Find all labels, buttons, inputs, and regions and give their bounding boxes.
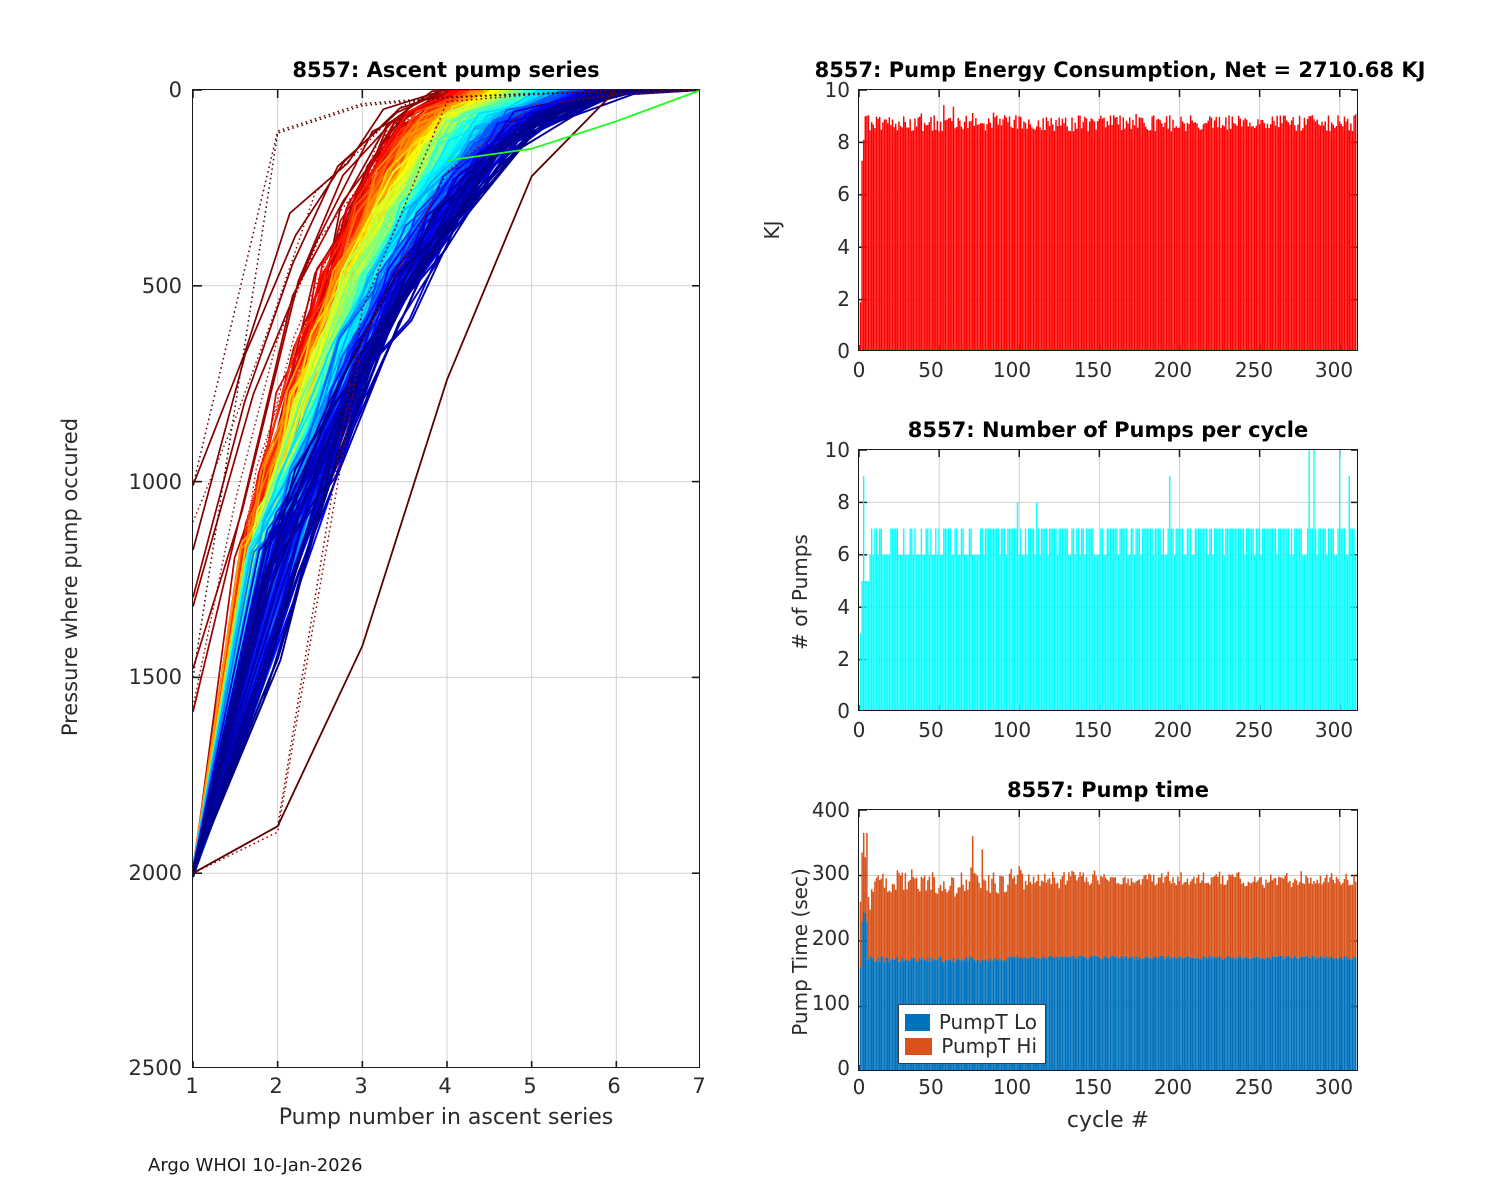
time-xtick-250: 250 (1229, 1075, 1279, 1099)
pumps-xtick-150: 150 (1068, 718, 1118, 742)
time-xtick-50: 50 (910, 1075, 952, 1099)
figure-footer-credit: Argo WHOI 10-Jan-2026 (148, 1155, 363, 1176)
pumps-xtick-300: 300 (1309, 718, 1359, 742)
pump-time-ylabel: Pump Time (sec) (788, 817, 812, 1087)
energy-xtick-200: 200 (1148, 358, 1198, 382)
energy-ytick-0: 0 (798, 339, 850, 363)
ascent-ytick-2000: 2000 (120, 861, 182, 885)
pumps-xtick-250: 250 (1229, 718, 1279, 742)
legend-label-pumpt-hi: PumpT Hi (941, 1036, 1037, 1056)
ascent-ytick-500: 500 (120, 274, 182, 298)
pump-energy-plot-area[interactable] (858, 89, 1358, 351)
pump-time-title: 8557: Pump time (858, 778, 1358, 802)
ascent-ytick-1500: 1500 (120, 665, 182, 689)
ascent-pump-series-plot-area[interactable] (192, 89, 700, 1068)
legend-swatch-pumpt-hi (905, 1038, 932, 1055)
time-xtick-100: 100 (987, 1075, 1037, 1099)
pump-energy-ylabel: KJ (760, 200, 784, 260)
legend-label-pumpt-lo: PumpT Lo (939, 1012, 1037, 1032)
pumps-xtick-50: 50 (910, 718, 952, 742)
time-ytick-100: 100 (778, 991, 850, 1015)
time-ytick-300: 300 (778, 861, 850, 885)
energy-ytick-6: 6 (798, 182, 850, 206)
ascent-xtick-7: 7 (685, 1074, 713, 1098)
energy-xtick-300: 300 (1309, 358, 1359, 382)
time-ytick-200: 200 (778, 926, 850, 950)
ascent-pump-series-ylabel: Pressure where pump occured (58, 297, 82, 857)
pump-time-legend: PumpT Lo PumpT Hi (898, 1004, 1046, 1064)
pumps-ytick-4: 4 (798, 595, 850, 619)
pumps-xtick-100: 100 (987, 718, 1037, 742)
pumps-per-cycle-title: 8557: Number of Pumps per cycle (858, 418, 1358, 442)
pumps-ytick-2: 2 (798, 647, 850, 671)
legend-entry-pumpt-hi[interactable]: PumpT Hi (905, 1034, 1037, 1058)
pumps-ytick-6: 6 (798, 542, 850, 566)
ascent-pump-series-title: 8557: Ascent pump series (192, 58, 700, 82)
ascent-xtick-4: 4 (431, 1074, 459, 1098)
ascent-pump-series-xlabel: Pump number in ascent series (192, 1105, 700, 1130)
pumps-ytick-10: 10 (798, 438, 850, 462)
pump-time-xlabel: cycle # (858, 1108, 1358, 1133)
ascent-xtick-6: 6 (600, 1074, 628, 1098)
energy-xtick-150: 150 (1068, 358, 1118, 382)
pump-energy-title: 8557: Pump Energy Consumption, Net = 271… (760, 58, 1480, 82)
energy-xtick-50: 50 (910, 358, 952, 382)
ascent-xtick-5: 5 (516, 1074, 544, 1098)
ascent-ytick-1000: 1000 (120, 470, 182, 494)
energy-ytick-2: 2 (798, 287, 850, 311)
energy-ytick-10: 10 (798, 78, 850, 102)
pumps-per-cycle-plot-area[interactable] (858, 449, 1358, 711)
legend-swatch-pumpt-lo (905, 1014, 930, 1031)
ascent-ytick-0: 0 (120, 78, 182, 102)
energy-xtick-0: 0 (844, 358, 874, 382)
pumps-xtick-200: 200 (1148, 718, 1198, 742)
ascent-xtick-3: 3 (347, 1074, 375, 1098)
time-ytick-0: 0 (778, 1056, 850, 1080)
energy-ytick-4: 4 (798, 235, 850, 259)
ascent-xtick-2: 2 (262, 1074, 290, 1098)
pumps-ytick-0: 0 (798, 699, 850, 723)
time-xtick-0: 0 (844, 1075, 874, 1099)
figure-canvas: 8557: Ascent pump series Pressure where … (0, 0, 1500, 1200)
energy-xtick-250: 250 (1229, 358, 1279, 382)
time-xtick-300: 300 (1309, 1075, 1359, 1099)
pumps-xtick-0: 0 (844, 718, 874, 742)
time-xtick-150: 150 (1068, 1075, 1118, 1099)
energy-xtick-100: 100 (987, 358, 1037, 382)
pumps-ytick-8: 8 (798, 490, 850, 514)
legend-entry-pumpt-lo[interactable]: PumpT Lo (905, 1010, 1037, 1034)
time-xtick-200: 200 (1148, 1075, 1198, 1099)
ascent-xtick-1: 1 (178, 1074, 206, 1098)
time-ytick-400: 400 (778, 798, 850, 822)
ascent-ytick-2500: 2500 (120, 1056, 182, 1080)
energy-ytick-8: 8 (798, 130, 850, 154)
